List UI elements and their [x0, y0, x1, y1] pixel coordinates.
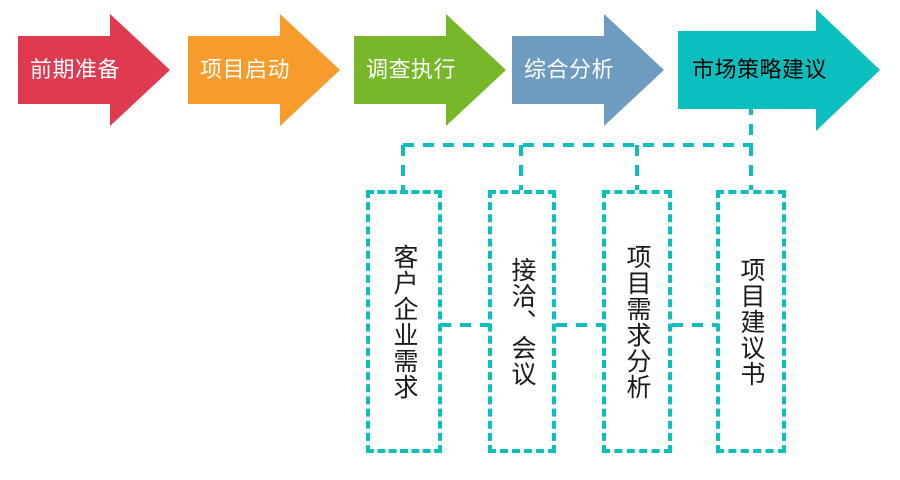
arrow-polygon-5 [678, 9, 880, 131]
subtask-box-4[interactable]: 项目建议书 [716, 190, 786, 453]
arrow-shape-icon [354, 0, 506, 140]
phase-arrow-1[interactable]: 前期准备 [18, 0, 170, 140]
subtask-box-1-label: 客户企业需求 [391, 244, 417, 400]
subtask-box-3-label: 项目需求分析 [624, 244, 650, 400]
phase-arrow-3[interactable]: 调查执行 [354, 0, 506, 140]
phase-arrow-band: 前期准备 项目启动 调查执行 综合分析 [0, 0, 900, 140]
subtask-box-2-label: 接洽、会议 [509, 257, 535, 387]
arrow-shape-icon [512, 0, 664, 140]
arrow-shape-icon [188, 0, 340, 140]
arrow-polygon-3 [354, 14, 506, 126]
subtask-box-3[interactable]: 项目需求分析 [602, 190, 672, 453]
arrow-shape-icon [678, 0, 880, 140]
arrow-polygon-2 [188, 14, 340, 126]
phase-arrow-2[interactable]: 项目启动 [188, 0, 340, 140]
subtask-box-1[interactable]: 客户企业需求 [366, 190, 442, 453]
arrow-polygon-4 [512, 14, 664, 126]
phase-arrow-5[interactable]: 市场策略建议 [678, 0, 880, 140]
arrow-shape-icon [18, 0, 170, 140]
phase-arrow-4[interactable]: 综合分析 [512, 0, 664, 140]
subtask-box-4-label: 项目建议书 [738, 257, 764, 387]
arrow-polygon-1 [18, 14, 170, 126]
diagram-canvas: 前期准备 项目启动 调查执行 综合分析 [0, 0, 900, 480]
subtask-box-2[interactable]: 接洽、会议 [488, 190, 556, 453]
